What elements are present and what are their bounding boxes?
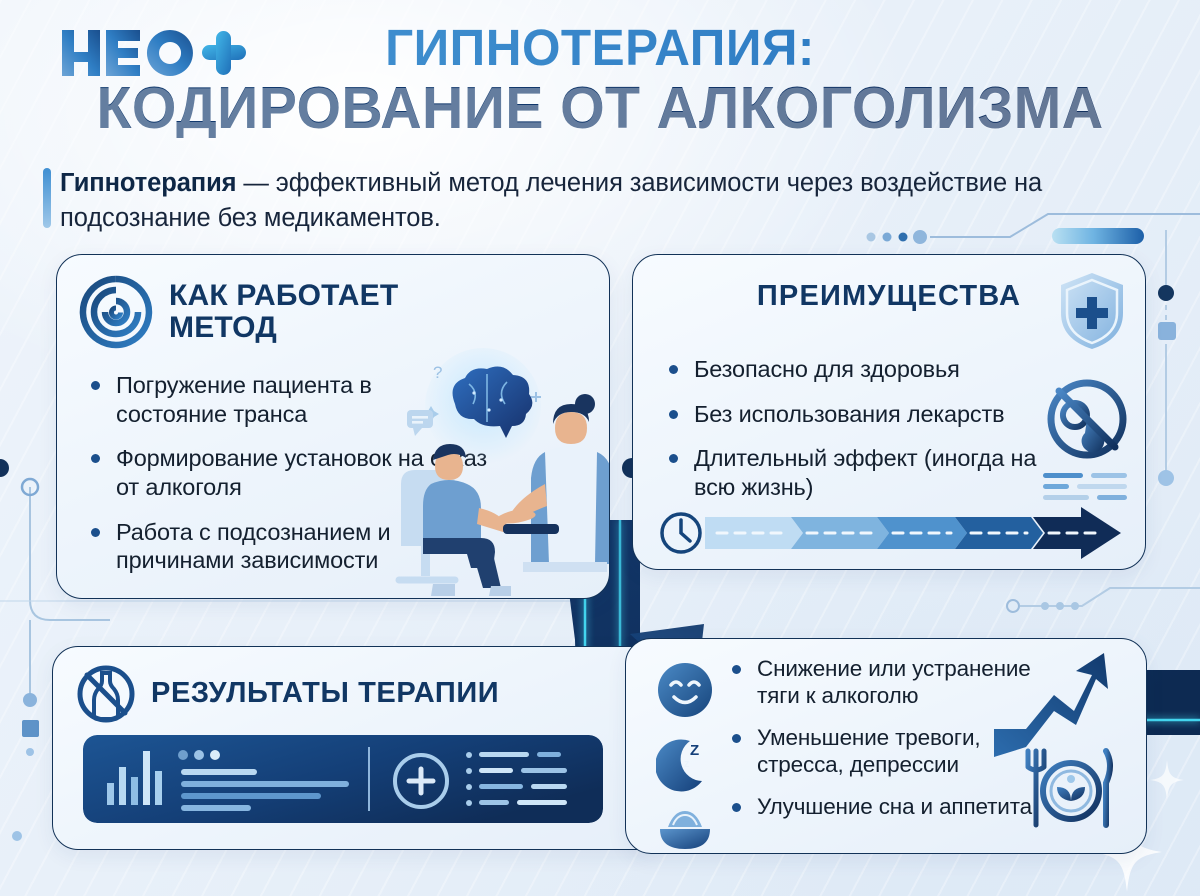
benefits-bullet-list: Безопасно для здоровья Без использования… [667, 355, 1067, 518]
card-therapy-effects[interactable]: Z z Снижение или устранение тяги к алког… [625, 638, 1147, 854]
results-card-header: РЕЗУЛЬТАТЫ ТЕРАПИИ [75, 663, 499, 725]
no-alcohol-icon [75, 663, 137, 725]
hypnosis-spiral-icon [79, 275, 153, 349]
card-benefits[interactable]: ПРЕИМУЩЕСТВА Безопасно для здоровья Без … [632, 254, 1146, 570]
therapy-session-illustration: ? [373, 348, 610, 598]
card-therapy-results[interactable]: РЕЗУЛЬТАТЫ ТЕРАПИИ [52, 646, 664, 850]
duration-timeline [657, 505, 1127, 561]
shield-plus-icon [1057, 271, 1127, 351]
neo-plus-logo[interactable] [58, 26, 248, 88]
growth-arrow-icon [992, 651, 1112, 761]
text-lines-decoration [1043, 471, 1127, 505]
card-how-method-works[interactable]: КАК РАБОТАЕТ МЕТОД Погружение пациента в… [56, 254, 610, 599]
healthy-meal-icon [1020, 747, 1120, 829]
sparkle-icon [1150, 760, 1184, 800]
lead-accent-bar [43, 168, 51, 228]
svg-text:?: ? [433, 363, 442, 382]
list-item: Без использования лекарств [667, 400, 1067, 429]
calm-face-icon [656, 661, 714, 719]
results-card-title: РЕЗУЛЬТАТЫ ТЕРАПИИ [151, 678, 499, 709]
svg-text:z: z [684, 758, 690, 770]
method-card-title: КАК РАБОТАЕТ МЕТОД [169, 280, 499, 345]
list-item: Длительный эффект (иногда на всю жизнь) [667, 444, 1067, 501]
lead-bold-term: Гипнотерапия [60, 169, 236, 197]
results-dashboard-decoration [83, 735, 603, 823]
list-item: Безопасно для здоровья [667, 355, 1067, 384]
infographic-root: ГИПНОТЕРАПИЯ: КОДИРОВАНИЕ ОТ АЛКОГОЛИЗМА… [0, 0, 1200, 896]
sleep-moon-icon: Z z [656, 735, 714, 793]
svg-text:Z: Z [690, 742, 699, 759]
food-bowl-icon [656, 805, 714, 853]
lead-paragraph: Гипнотерапия — эффективный метод лечения… [60, 166, 1090, 235]
method-card-header: КАК РАБОТАЕТ МЕТОД [79, 275, 499, 349]
list-item: Улучшение сна и аппетита [730, 793, 1060, 820]
no-pill-icon [1045, 377, 1129, 461]
